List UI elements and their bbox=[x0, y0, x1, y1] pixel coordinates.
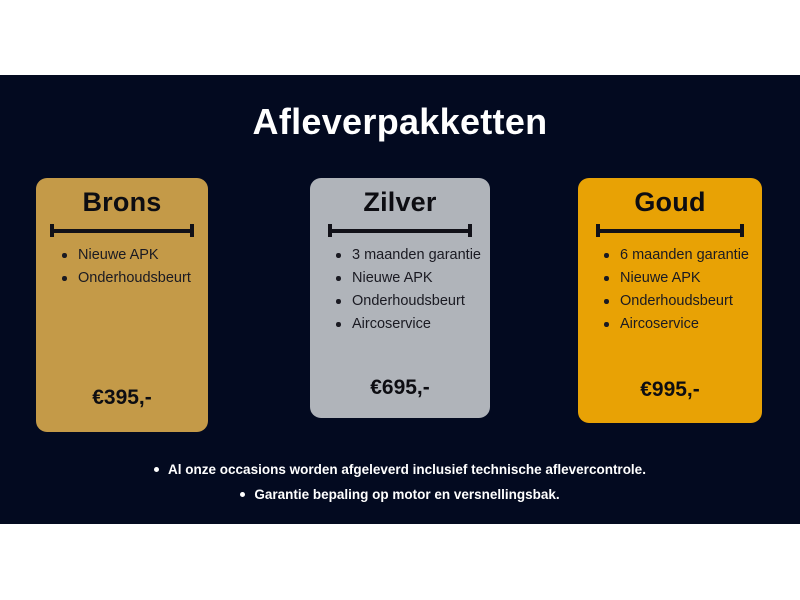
slide-canvas: Afleverpakketten Brons Nieuwe APK Onderh… bbox=[0, 75, 800, 524]
list-item: 6 maanden garantie bbox=[602, 245, 752, 266]
feature-list-zilver: 3 maanden garantie Nieuwe APK Onderhouds… bbox=[334, 245, 480, 337]
package-title-zilver: Zilver bbox=[310, 187, 490, 218]
footer-notes: Al onze occasions worden afgeleverd incl… bbox=[0, 457, 800, 507]
package-card-brons[interactable]: Brons Nieuwe APK Onderhoudsbeurt €395,- bbox=[36, 178, 208, 432]
package-card-goud[interactable]: Goud 6 maanden garantie Nieuwe APK Onder… bbox=[578, 178, 762, 423]
list-item: Nieuwe APK bbox=[60, 245, 198, 266]
feature-list-brons: Nieuwe APK Onderhoudsbeurt bbox=[60, 245, 198, 291]
list-item: Onderhoudsbeurt bbox=[60, 268, 198, 289]
divider-cap-right-icon bbox=[468, 224, 472, 237]
feature-list-goud: 6 maanden garantie Nieuwe APK Onderhouds… bbox=[602, 245, 752, 337]
bullet-icon bbox=[154, 467, 159, 472]
list-item: Aircoservice bbox=[334, 314, 480, 335]
package-price-brons: €395,- bbox=[36, 386, 208, 410]
package-card-zilver[interactable]: Zilver 3 maanden garantie Nieuwe APK Ond… bbox=[310, 178, 490, 418]
list-item: Onderhoudsbeurt bbox=[334, 291, 480, 312]
divider-bar-icon bbox=[596, 229, 744, 233]
package-price-zilver: €695,- bbox=[310, 376, 490, 400]
list-item: Onderhoudsbeurt bbox=[602, 291, 752, 312]
list-item: 3 maanden garantie bbox=[334, 245, 480, 266]
list-item: Aircoservice bbox=[602, 314, 752, 335]
footer-note-2-text: Garantie bepaling op motor en versnellin… bbox=[254, 487, 559, 502]
title-divider-icon bbox=[50, 224, 194, 237]
title-divider-icon bbox=[596, 224, 744, 237]
bullet-icon bbox=[240, 492, 245, 497]
list-item: Nieuwe APK bbox=[602, 268, 752, 289]
divider-cap-right-icon bbox=[190, 224, 194, 237]
divider-bar-icon bbox=[328, 229, 472, 233]
title-divider-icon bbox=[328, 224, 472, 237]
page-title: Afleverpakketten bbox=[0, 101, 800, 143]
footer-note-1-text: Al onze occasions worden afgeleverd incl… bbox=[168, 462, 646, 477]
divider-cap-right-icon bbox=[740, 224, 744, 237]
package-title-brons: Brons bbox=[36, 187, 208, 218]
list-item: Nieuwe APK bbox=[334, 268, 480, 289]
package-price-goud: €995,- bbox=[578, 378, 762, 402]
footer-note-1: Al onze occasions worden afgeleverd incl… bbox=[0, 457, 800, 482]
footer-note-2: Garantie bepaling op motor en versnellin… bbox=[0, 482, 800, 507]
package-title-goud: Goud bbox=[578, 187, 762, 218]
divider-bar-icon bbox=[50, 229, 194, 233]
